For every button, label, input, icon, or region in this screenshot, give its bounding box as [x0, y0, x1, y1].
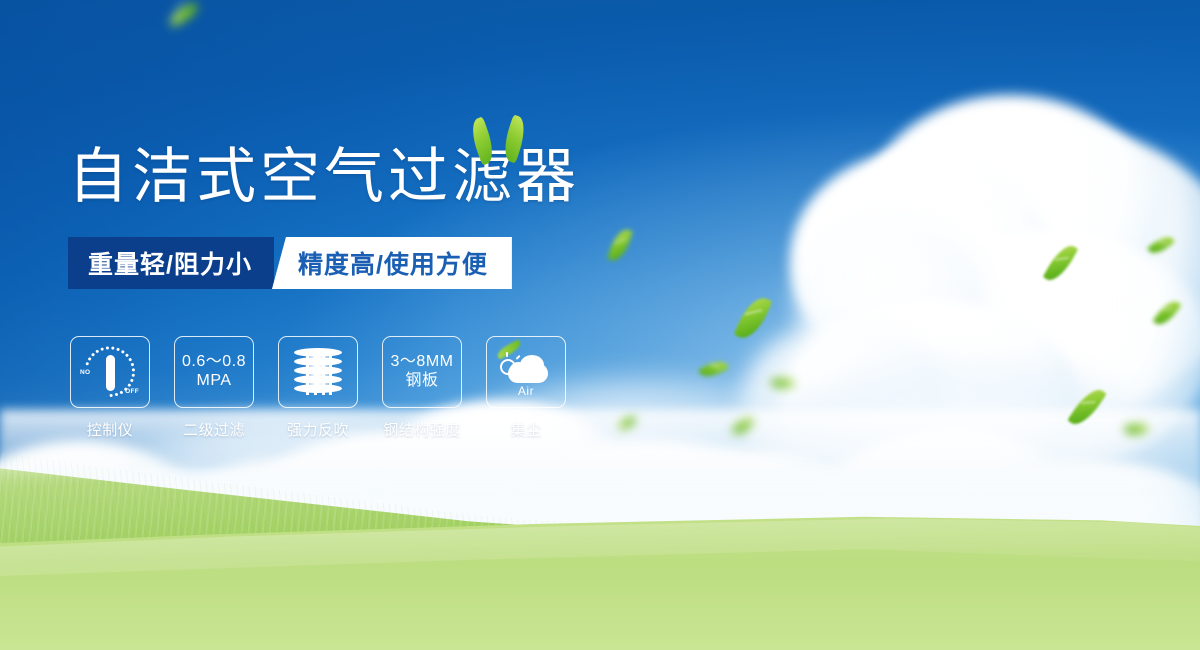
cloud-air-icon: Air: [498, 349, 554, 395]
feature-item[interactable]: 强力反吹: [278, 336, 358, 440]
grass-field: [0, 410, 1200, 650]
gauge-label-no: NO: [80, 369, 90, 376]
gauge-label-off: OFF: [125, 388, 139, 395]
feature-text-line1: 0.6～0.8: [182, 353, 246, 372]
feature-label: 钢结构强度: [383, 419, 461, 440]
feature-icon-box: Air: [486, 336, 566, 408]
feature-icon-box: 3～8MM 钢板: [382, 336, 462, 408]
feature-text-line1: 3～8MM: [391, 353, 454, 372]
sprout-leaf-left: [467, 116, 499, 165]
subtitle-badges: 重量轻/阻力小 精度高/使用方便: [68, 237, 512, 289]
promotional-banner: 自洁式空气过滤器 重量轻/阻力小 精度高/使用方便: [0, 0, 1200, 650]
cloud-air-label: Air: [498, 384, 554, 398]
feature-label: 控制仪: [87, 419, 134, 440]
feature-text-line2: MPA: [197, 372, 232, 391]
badge-left: 重量轻/阻力小: [68, 237, 274, 289]
feature-item[interactable]: 0.6～0.8 MPA 二级过滤: [174, 336, 254, 440]
feature-text-line2: 钢板: [405, 372, 438, 391]
feature-icon-box: 0.6～0.8 MPA: [174, 336, 254, 408]
stacked-discs-icon: [294, 346, 342, 398]
sprout-leaf-right: [499, 114, 529, 163]
feature-list: NO OFF 控制仪 0.6～0.8 MPA 二级过滤: [70, 336, 566, 440]
feature-icon-box: NO OFF: [70, 336, 150, 408]
feature-label: 集尘: [510, 419, 541, 440]
badge-right: 精度高/使用方便: [272, 237, 512, 289]
sprout-leaves-icon: [470, 112, 540, 164]
gauge-needle: [106, 355, 115, 391]
control-gauge-icon: NO OFF: [83, 346, 137, 398]
feature-item[interactable]: 3～8MM 钢板 钢结构强度: [382, 336, 462, 440]
feature-icon-box: [278, 336, 358, 408]
feature-label: 强力反吹: [287, 419, 349, 440]
feature-label: 二级过滤: [183, 419, 245, 440]
feature-item[interactable]: Air 集尘: [486, 336, 566, 440]
feature-item[interactable]: NO OFF 控制仪: [70, 336, 150, 440]
